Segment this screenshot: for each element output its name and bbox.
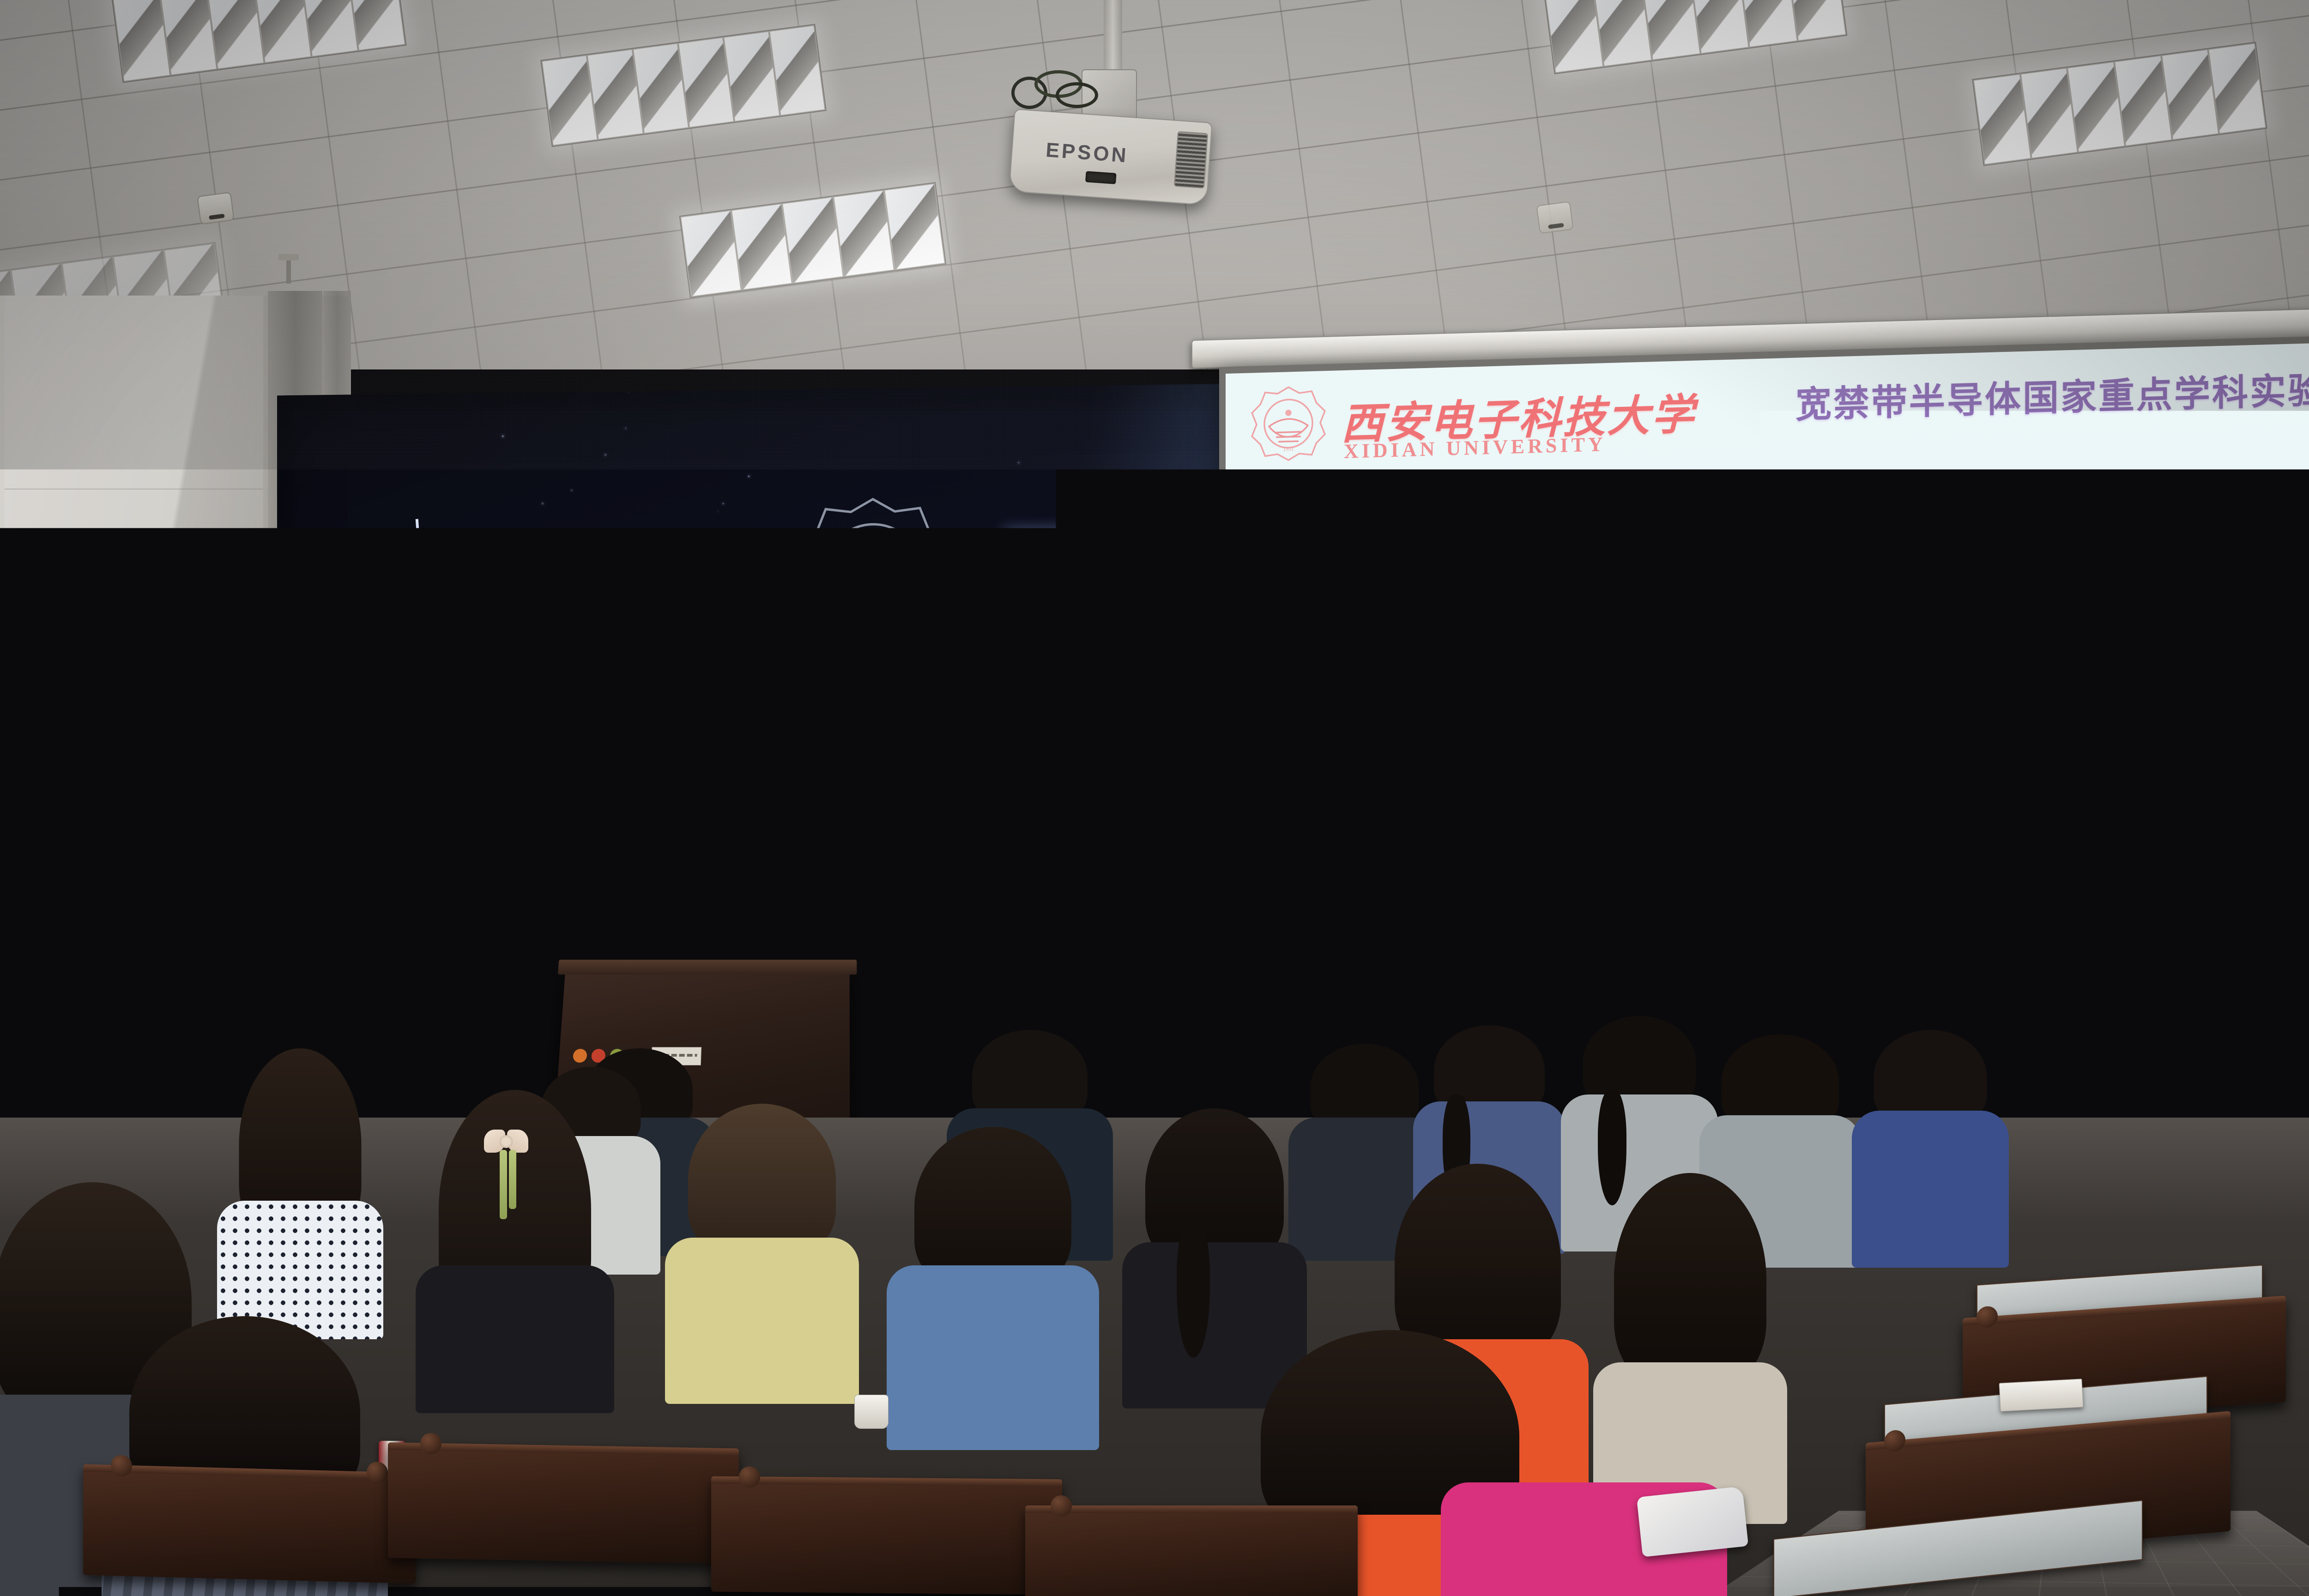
audience-person <box>416 1090 614 1348</box>
audience-person <box>1852 1030 2009 1233</box>
slide-presenter-rank: 教授 <box>1891 848 1944 879</box>
projection-screen-frame: 1931 西安电子科技大学 XIDIAN UNIVERSITY 宽禁带半导体国家… <box>1219 334 2309 1152</box>
lectern-top-edge <box>558 960 857 974</box>
microphone-head <box>779 904 797 928</box>
projector-cables <box>1011 70 1118 115</box>
notebook-on-desk[interactable] <box>1999 1378 2084 1411</box>
svg-text:1931: 1931 <box>1283 446 1294 453</box>
bench-seat[interactable] <box>1025 1505 1358 1596</box>
slide-presenter-name: 马 晓 华 <box>1669 832 1890 889</box>
sprinkler-head <box>286 259 291 284</box>
xidian-crest-banner-icon: 1931 <box>794 494 951 653</box>
smoke-detector <box>197 192 234 224</box>
projector-brand-label: EPSON <box>1045 139 1129 167</box>
bench-seat[interactable] <box>711 1476 1062 1595</box>
svg-text:1931: 1931 <box>863 617 883 629</box>
audience-person <box>1593 1173 1787 1450</box>
presentation-slide: 1931 西安电子科技大学 XIDIAN UNIVERSITY 宽禁带半导体国家… <box>1226 341 2309 1146</box>
projector-lens <box>1085 171 1117 184</box>
audience-person <box>887 1127 1099 1404</box>
lecture-hall-photo: EPSON <box>0 0 2309 1596</box>
ac-power-indicator <box>141 940 151 949</box>
slide-lab-header: 宽禁带半导体国家重点学科实验室 <box>1795 360 2309 428</box>
smoke-detector <box>1536 201 1573 234</box>
presenter-glasses <box>659 797 740 816</box>
slide-affiliation: 先进材料与纳米科技学院 宽禁带半导体重点实验室 <box>1226 900 2309 1017</box>
ceiling-projector: EPSON <box>1009 109 1213 206</box>
hair-bow-accessory <box>484 1130 528 1158</box>
audience-person <box>665 1104 859 1362</box>
projector-vent <box>1174 131 1208 188</box>
xidian-crest-slide-icon: 1931 <box>1250 384 1327 464</box>
slide-presenter-line: 马 晓 华教授 <box>1226 808 2309 904</box>
projection-screen-surface: 1931 西安电子科技大学 XIDIAN UNIVERSITY 宽禁带半导体国家… <box>1226 341 2309 1146</box>
presenter-mouth <box>686 830 711 838</box>
projector-mount-pole <box>1104 0 1122 74</box>
bench-seat[interactable] <box>388 1442 739 1564</box>
paper-cup[interactable] <box>854 1395 889 1429</box>
bench-seat[interactable] <box>83 1464 416 1584</box>
audience-person <box>217 1048 383 1270</box>
ac-display-panel[interactable] <box>134 933 259 958</box>
ac-leaf-decal <box>143 1048 217 1064</box>
audience-person <box>1122 1108 1307 1367</box>
slide-main-title: 第三代半导体材料及器件 <box>1226 577 2309 721</box>
